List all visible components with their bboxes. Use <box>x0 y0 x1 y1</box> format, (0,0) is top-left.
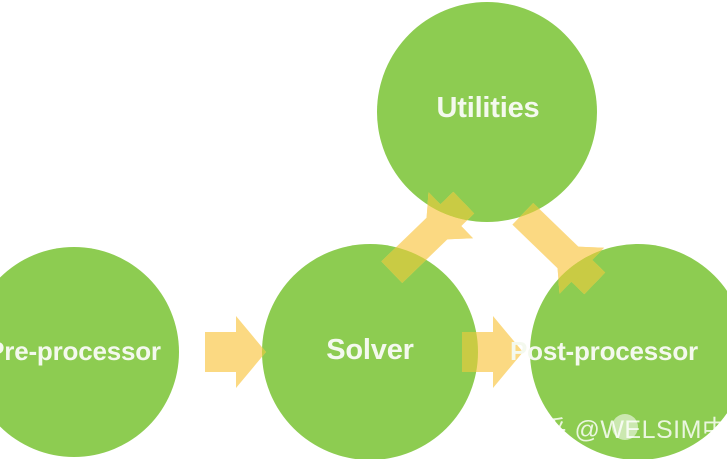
node-label-solver: Solver <box>265 334 475 367</box>
watermark-badge-icon <box>612 414 638 440</box>
diagram-canvas: Utilities Pre-processor Solver Post-proc… <box>0 0 727 459</box>
connector-pre-to-solver <box>205 316 266 388</box>
node-label-pre-processor: Pre-processor <box>0 336 184 367</box>
node-label-utilities: Utilities <box>378 92 598 125</box>
process-flow-diagram <box>0 0 727 459</box>
node-label-post-processor: Post-processor <box>510 336 727 367</box>
